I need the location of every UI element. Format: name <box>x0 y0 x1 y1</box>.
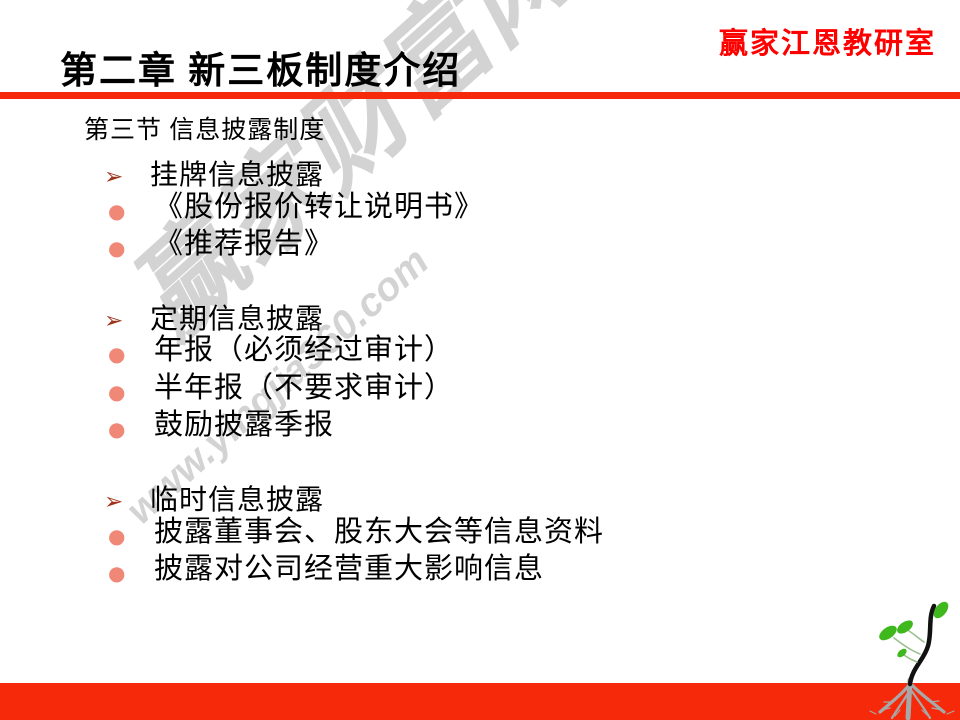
bullet-item-text: 披露对公司经营重大影响信息 <box>154 553 544 585</box>
bullet-item-row: ● 《推荐报告》 <box>104 228 904 260</box>
sapling-leaves-icon <box>877 599 952 659</box>
dot-bullet-icon: ● <box>104 553 154 583</box>
bullet-heading-text: 临时信息披露 <box>150 485 324 516</box>
bullet-item-text: 半年报（不要求审计） <box>154 372 454 404</box>
bullet-item-text: 披露董事会、股东大会等信息资料 <box>154 516 604 548</box>
slide-canvas: 赢家财富网 www.yingjia360.com 赢家江恩教研室 第二章 新三板… <box>0 0 960 720</box>
section-title: 第三节 信息披露制度 <box>84 110 325 146</box>
bullet-item-text: 年报（必须经过审计） <box>154 334 454 366</box>
bullet-group: ➢ 临时信息披露 ● 披露董事会、股东大会等信息资料 ● 披露对公司经营重大影响… <box>104 485 904 585</box>
dot-bullet-icon: ● <box>104 372 154 402</box>
sapling-roots-icon <box>870 680 954 718</box>
bullet-item-row: ● 《股份报价转让说明书》 <box>104 191 904 223</box>
bullet-heading-text: 定期信息披露 <box>150 304 324 335</box>
bullet-item-text: 鼓励披露季报 <box>154 409 334 441</box>
dot-bullet-icon: ● <box>104 409 154 439</box>
bullet-item-text: 《推荐报告》 <box>154 228 334 260</box>
bullet-item-row: ● 鼓励披露季报 <box>104 409 904 441</box>
bullet-item-row: ● 年报（必须经过审计） <box>104 334 904 366</box>
arrow-bullet-icon: ➢ <box>104 304 150 333</box>
dot-bullet-icon: ● <box>104 516 154 546</box>
bullet-group: ➢ 定期信息披露 ● 年报（必须经过审计） ● 半年报（不要求审计） ● 鼓励披… <box>104 304 904 441</box>
bullet-heading-text: 挂牌信息披露 <box>150 160 324 191</box>
bullet-item-text: 《股份报价转让说明书》 <box>154 191 484 223</box>
sapling-branches-icon <box>894 631 924 662</box>
bullet-item-row: ● 半年报（不要求审计） <box>104 372 904 404</box>
bullet-group: ➢ 挂牌信息披露 ● 《股份报价转让说明书》 ● 《推荐报告》 <box>104 160 904 260</box>
page-title: 第二章 新三板制度介绍 <box>60 40 461 94</box>
dot-bullet-icon: ● <box>104 334 154 364</box>
arrow-bullet-icon: ➢ <box>104 160 150 189</box>
bullet-item-row: ● 披露对公司经营重大影响信息 <box>104 553 904 585</box>
dot-bullet-icon: ● <box>104 228 154 258</box>
sapling-stem-icon <box>910 606 934 684</box>
bullet-heading-row: ➢ 临时信息披露 <box>104 485 904 516</box>
footer-bar <box>0 683 960 720</box>
sapling-decoration-icon <box>862 598 960 720</box>
content-body: ➢ 挂牌信息披露 ● 《股份报价转让说明书》 ● 《推荐报告》 ➢ 定期信息披露… <box>104 160 904 591</box>
bullet-heading-row: ➢ 挂牌信息披露 <box>104 160 904 191</box>
brand-label: 赢家江恩教研室 <box>719 20 936 62</box>
bullet-item-row: ● 披露董事会、股东大会等信息资料 <box>104 516 904 548</box>
dot-bullet-icon: ● <box>104 191 154 221</box>
bullet-heading-row: ➢ 定期信息披露 <box>104 304 904 335</box>
arrow-bullet-icon: ➢ <box>104 485 150 514</box>
